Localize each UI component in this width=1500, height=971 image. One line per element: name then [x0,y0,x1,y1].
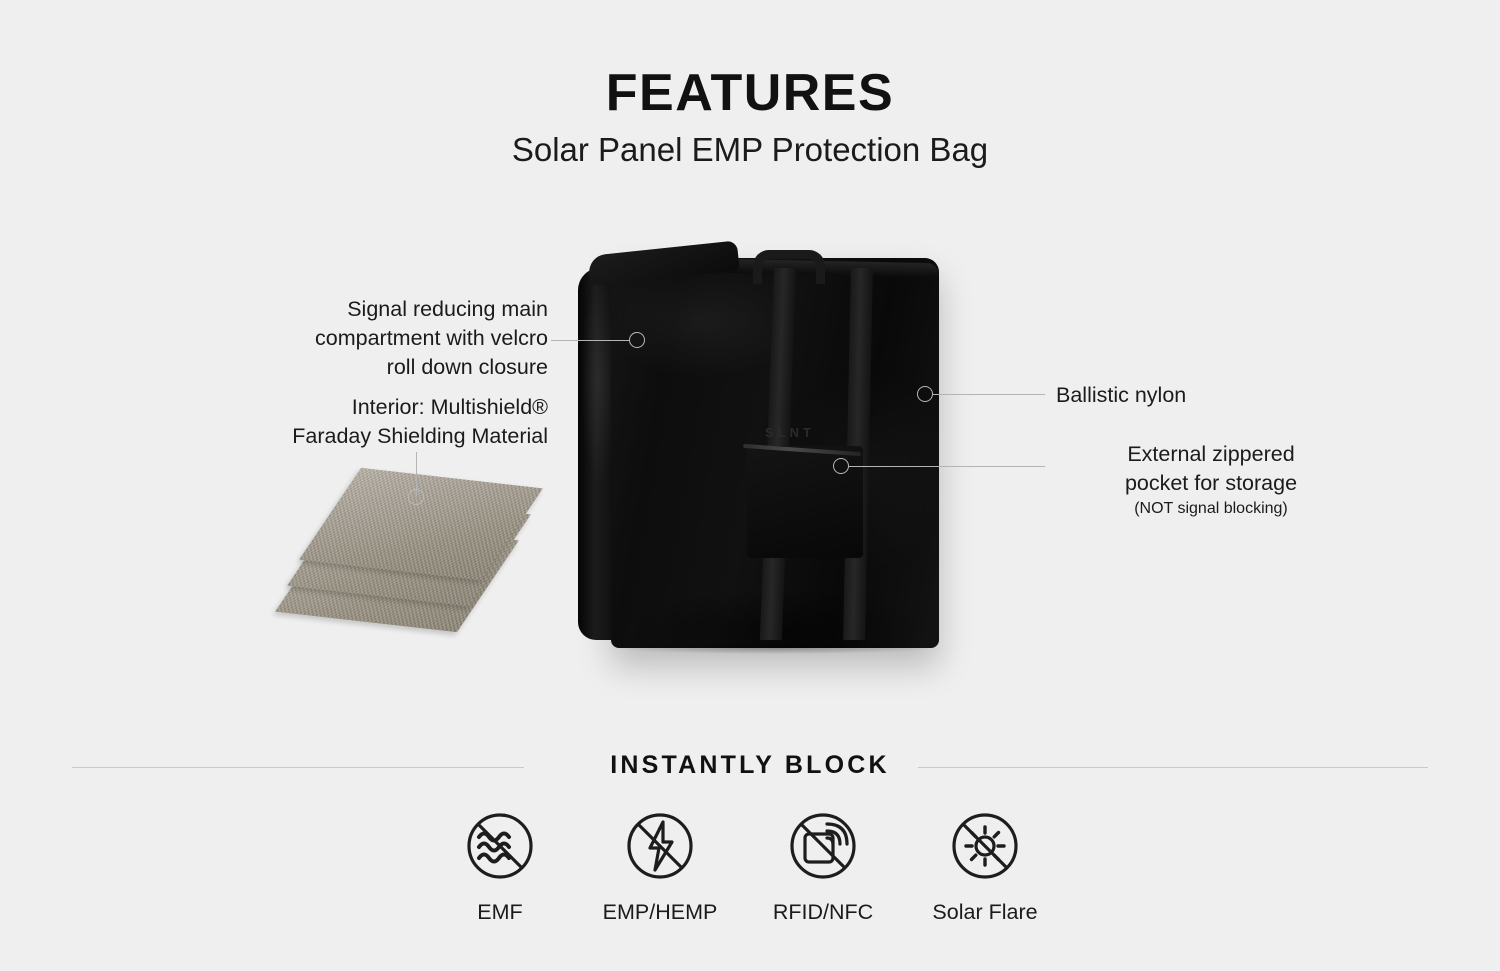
threat-item-rfid-nfc: RFID/NFC [738,808,908,925]
threat-label: EMP/HEMP [575,900,745,925]
threat-item-emp-hemp: EMP/HEMP [575,808,745,925]
sun-flare-blocked-icon [900,808,1070,884]
threat-label: RFID/NFC [738,900,908,925]
leader-line-main-compartment [551,340,629,341]
callout-line: Ballistic nylon [1056,381,1376,410]
callout-ring-external-pocket [833,458,849,474]
fabric-swatch-top [299,468,543,581]
callout-ring-main-compartment [629,332,645,348]
page-title: FEATURES [0,63,1500,123]
lightning-bolt-blocked-icon [575,808,745,884]
callout-line: Faraday Shielding Material [236,422,548,451]
leader-line-external-pocket [849,466,1045,467]
product-image-bag: SLNT [575,250,975,660]
callout-ring-ballistic-nylon [917,386,933,402]
page-subtitle: Solar Panel EMP Protection Bag [0,131,1500,169]
leader-line-ballistic-nylon [933,394,1045,395]
emf-waves-blocked-icon [415,808,585,884]
bag-ground-shadow [615,642,935,654]
callout-line: pocket for storage [1046,469,1376,498]
features-infographic: FEATURES Solar Panel EMP Protection Bag … [0,0,1500,971]
threat-label: Solar Flare [900,900,1070,925]
callout-line: Signal reducing main [236,295,548,324]
instantly-block-heading: INSTANTLY BLOCK [0,751,1500,780]
callout-line: roll down closure [236,353,548,382]
callout-note: (NOT signal blocking) [1046,498,1376,520]
brand-logo-slnt: SLNT [765,425,815,440]
blocked-threats-row: EMF EMP/HEMP RFID/N [420,808,1080,948]
callout-ring-interior-material [408,489,424,505]
callout-external-pocket: External zippered pocket for storage (NO… [1046,440,1376,520]
rfid-nfc-blocked-icon [738,808,908,884]
callout-line: External zippered [1046,440,1376,469]
callout-line: compartment with velcro [236,324,548,353]
threat-label: EMF [415,900,585,925]
threat-item-emf: EMF [415,808,585,925]
threat-item-solar-flare: Solar Flare [900,808,1070,925]
callout-main-compartment: Signal reducing main compartment with ve… [236,295,548,382]
callout-ballistic-nylon: Ballistic nylon [1056,381,1376,410]
callout-line: Interior: Multishield® [236,393,548,422]
callout-interior-material: Interior: Multishield® Faraday Shielding… [236,393,548,451]
